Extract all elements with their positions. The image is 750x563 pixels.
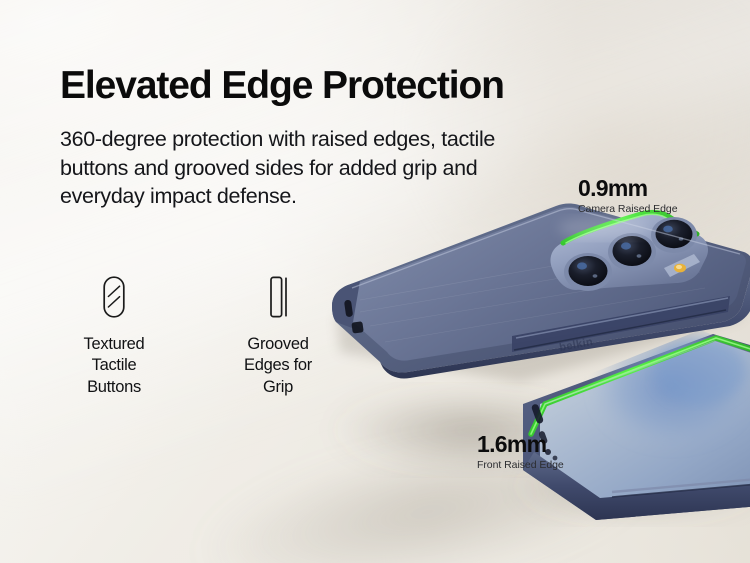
- textured-button-icon: [54, 272, 174, 322]
- callout-caption: Camera Raised Edge: [578, 203, 678, 216]
- product-feature-banner: belkin: [0, 0, 750, 563]
- callout-value: 1.6mm: [477, 432, 564, 456]
- feature-label: Textured Tactile Buttons: [54, 334, 174, 398]
- callout-value: 0.9mm: [578, 176, 678, 200]
- grooved-edge-icon: [218, 272, 338, 322]
- page-title: Elevated Edge Protection: [60, 66, 580, 107]
- page-subcopy: 360-degree protection with raised edges,…: [60, 125, 555, 211]
- feature-grooved-edges-for-grip: Grooved Edges for Grip: [218, 272, 338, 398]
- feature-label: Grooved Edges for Grip: [218, 334, 338, 398]
- callout-front-raised-edge: 1.6mm Front Raised Edge: [477, 432, 564, 472]
- copy-block: Elevated Edge Protection 360-degree prot…: [60, 66, 580, 211]
- feature-textured-tactile-buttons: Textured Tactile Buttons: [54, 272, 174, 398]
- callout-camera-raised-edge: 0.9mm Camera Raised Edge: [578, 176, 678, 216]
- callout-caption: Front Raised Edge: [477, 459, 564, 472]
- feature-list: Textured Tactile Buttons Grooved Edges f…: [54, 272, 338, 398]
